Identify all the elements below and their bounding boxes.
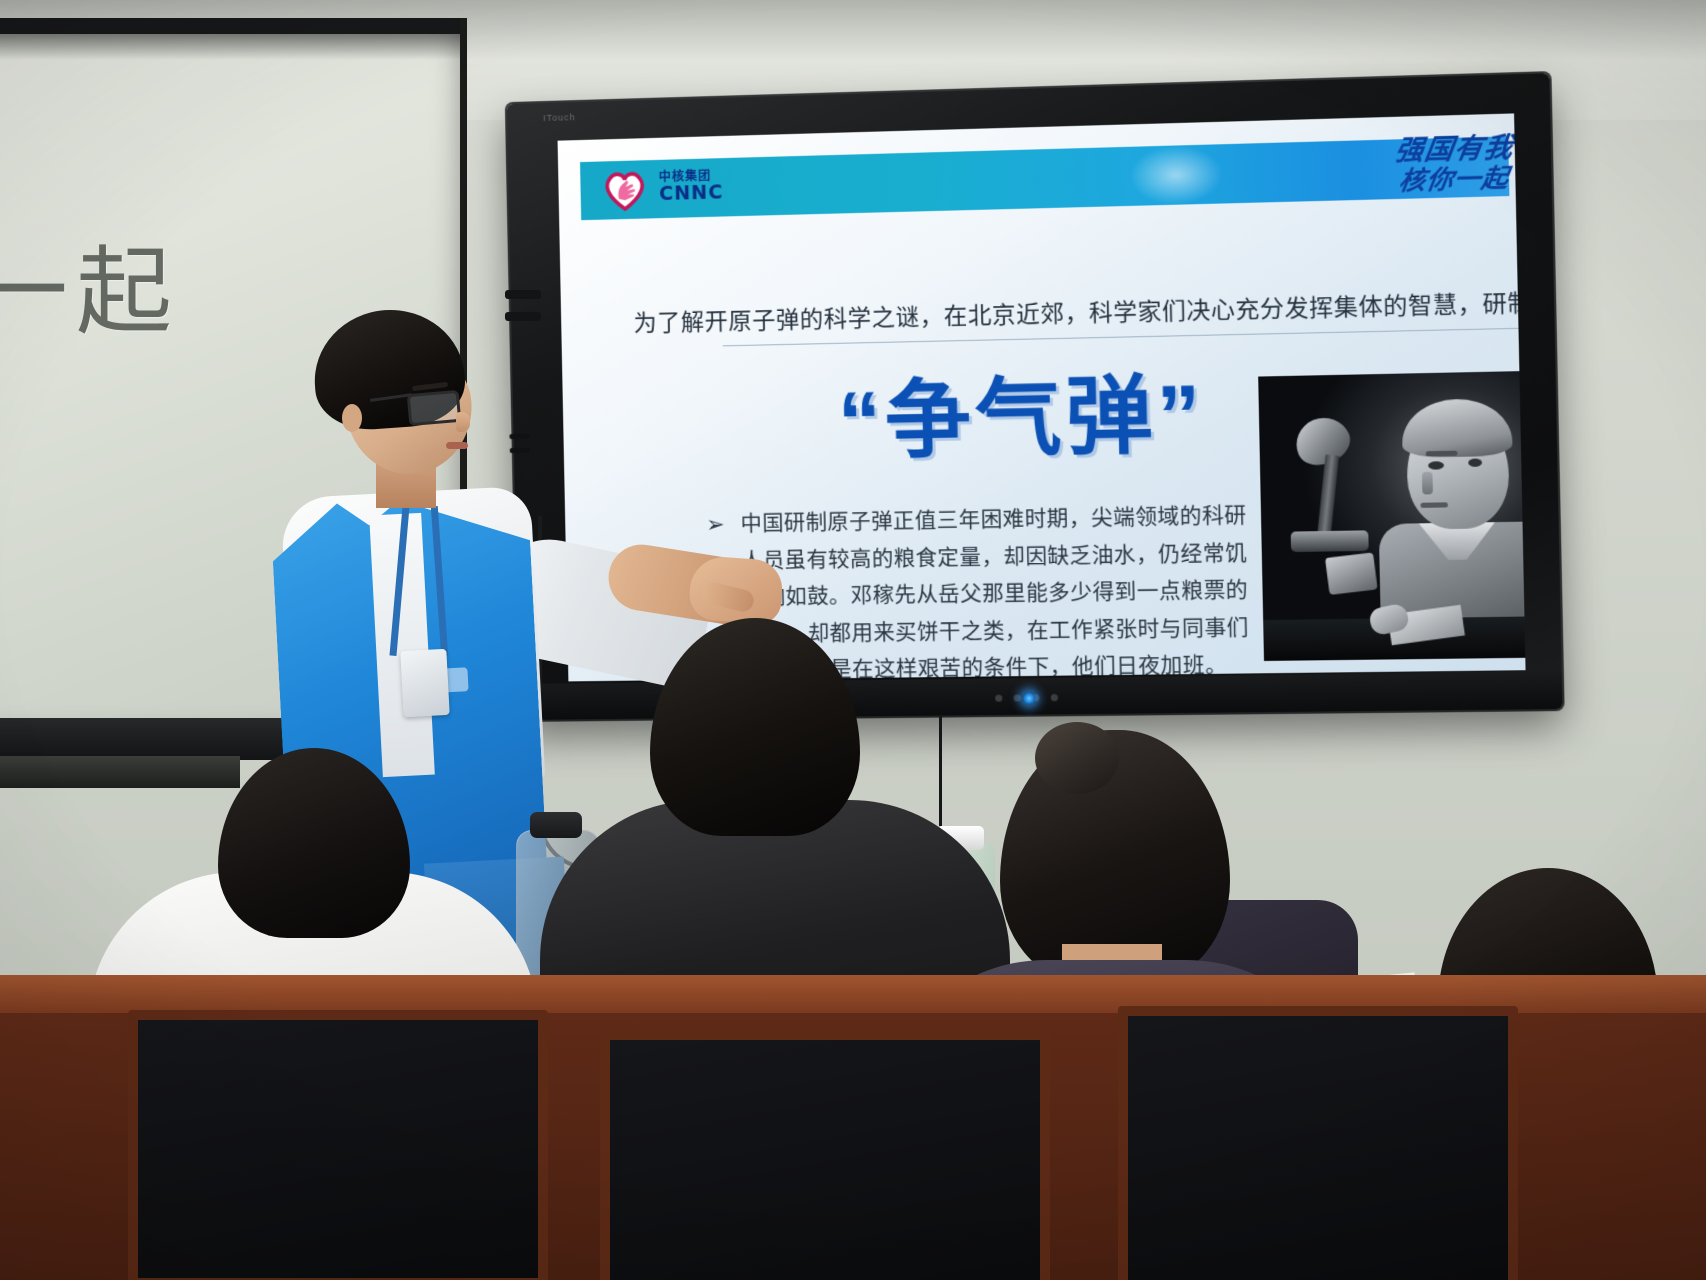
portrait-photo bbox=[1258, 371, 1525, 661]
chair-back-1 bbox=[128, 1010, 548, 1280]
presenter-glasses-lens bbox=[407, 390, 462, 426]
display-cable-stub-1 bbox=[505, 290, 541, 299]
portrait-desk-object bbox=[1325, 553, 1378, 595]
portrait-nose bbox=[1422, 472, 1433, 495]
slogan-line-1: 强国有我 bbox=[1353, 132, 1516, 167]
slide-slogan: 强国有我 核你一起 bbox=[1348, 132, 1516, 204]
water-bottle-gray-cap bbox=[530, 812, 582, 838]
cnnc-logo: 中核集团 CNNC bbox=[659, 168, 781, 209]
slide-title: “争气弹” bbox=[703, 363, 1344, 473]
presenter-id-badge bbox=[400, 649, 449, 717]
slide-header-glare bbox=[1129, 144, 1224, 206]
heart-hand-logo bbox=[602, 168, 647, 211]
desk-lamp-base bbox=[1291, 530, 1369, 552]
portrait-brow bbox=[1426, 451, 1458, 457]
classroom-scene: 一起 ITouch 中核集团 CNNC 强国 bbox=[0, 0, 1706, 1280]
portrait-mouth bbox=[1420, 502, 1448, 508]
whiteboard-handwriting: 一起 bbox=[0, 214, 292, 344]
presenter-nose bbox=[456, 412, 470, 432]
display-brand-label: ITouch bbox=[543, 111, 613, 125]
cnnc-name-en: CNNC bbox=[659, 181, 781, 204]
slogan-line-2: 核你一起 bbox=[1349, 163, 1512, 198]
whiteboard-marker-rail bbox=[0, 756, 240, 788]
whiteboard-top-frame bbox=[0, 18, 460, 34]
power-led-indicator bbox=[1023, 692, 1036, 704]
display-control-buttons[interactable] bbox=[995, 688, 1109, 706]
presenter-ear bbox=[342, 404, 362, 432]
chair-back-3 bbox=[1118, 1006, 1518, 1280]
audience-member-3-hairbun bbox=[1035, 722, 1119, 794]
chair-back-2 bbox=[600, 1030, 1050, 1280]
whiteboard-shadow bbox=[0, 34, 460, 60]
presenter-mouth bbox=[446, 442, 468, 449]
